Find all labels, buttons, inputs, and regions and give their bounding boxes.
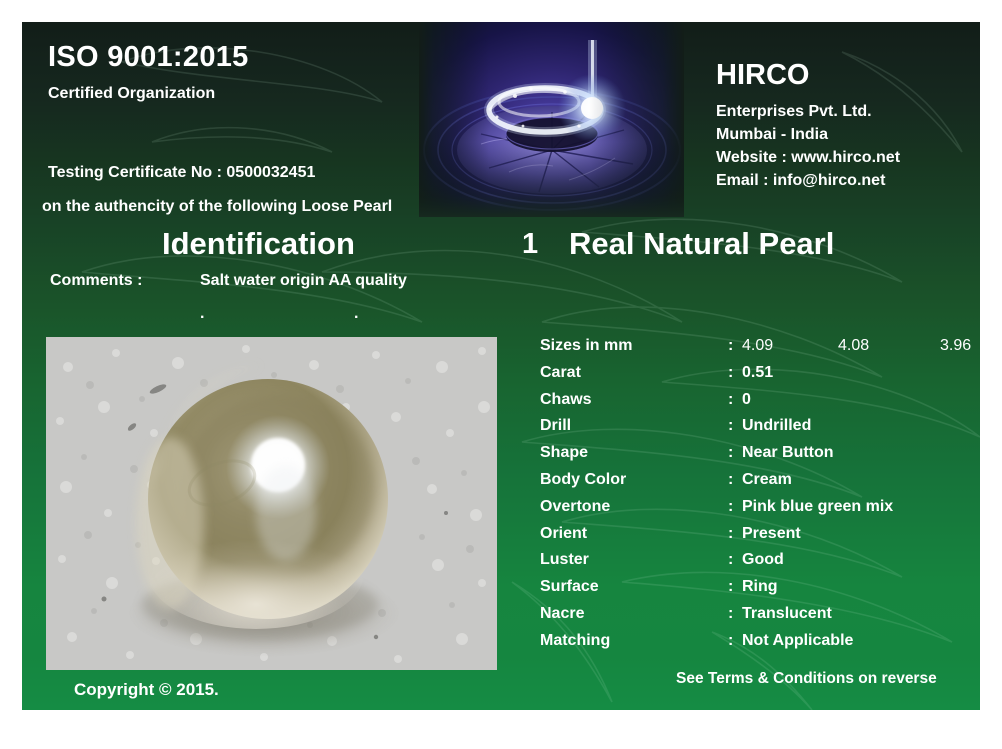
property-label: Surface xyxy=(540,578,599,596)
table-row: Body Color : Cream xyxy=(540,471,980,498)
property-label: Drill xyxy=(540,417,571,435)
certified-organization-label: Certified Organization xyxy=(48,85,249,103)
property-colon: : xyxy=(728,632,733,650)
property-colon: : xyxy=(728,525,733,543)
comments-value: Salt water origin AA quality xyxy=(200,272,407,290)
property-label: Orient xyxy=(540,525,587,543)
copyright-notice: Copyright © 2015. xyxy=(74,680,219,700)
company-line-location: Mumbai - India xyxy=(716,124,900,147)
property-label: Nacre xyxy=(540,605,584,623)
property-value-3: 3.96 xyxy=(940,337,971,355)
property-value: Present xyxy=(742,525,801,543)
property-value: Translucent xyxy=(742,605,832,623)
property-label: Shape xyxy=(540,444,588,462)
property-value: 0 xyxy=(742,391,751,409)
pearl-properties-table: Sizes in mm : 4.09 4.08 3.96 Carat : 0.5… xyxy=(540,337,980,659)
property-label: Sizes in mm xyxy=(540,337,632,355)
table-row: Surface : Ring xyxy=(540,578,980,605)
property-value: Cream xyxy=(742,471,792,489)
property-colon: : xyxy=(728,498,733,516)
testing-certificate-number: Testing Certificate No : 0500032451 xyxy=(48,164,315,182)
property-colon: : xyxy=(728,337,733,355)
header-left-block: ISO 9001:2015 Certified Organization xyxy=(48,42,249,103)
company-name: HIRCO xyxy=(716,60,900,90)
property-colon: : xyxy=(728,364,733,382)
terms-and-conditions-note: See Terms & Conditions on reverse xyxy=(676,670,937,688)
comments-dot-2: . xyxy=(354,305,358,323)
comments-label: Comments : xyxy=(50,272,142,290)
property-label: Luster xyxy=(540,551,589,569)
item-count: 1 xyxy=(522,228,538,261)
pearl-specimen-photo xyxy=(46,337,497,670)
property-label: Carat xyxy=(540,364,581,382)
property-value-2: 4.08 xyxy=(838,337,869,355)
property-value: 4.09 xyxy=(742,337,773,355)
glowing-pearl-ring-logo-icon xyxy=(419,22,684,217)
property-colon: : xyxy=(728,471,733,489)
table-row: Carat : 0.51 xyxy=(540,364,980,391)
property-colon: : xyxy=(728,391,733,409)
identification-heading: Identification xyxy=(162,226,355,262)
item-name: Real Natural Pearl xyxy=(569,226,834,262)
comments-dot-1: . xyxy=(200,305,204,323)
property-label: Chaws xyxy=(540,391,592,409)
property-label: Matching xyxy=(540,632,610,650)
property-value: 0.51 xyxy=(742,364,773,382)
property-value: Near Button xyxy=(742,444,834,462)
property-colon: : xyxy=(728,605,733,623)
table-row: Drill : Undrilled xyxy=(540,417,980,444)
table-row: Orient : Present xyxy=(540,525,980,552)
company-line-entity: Enterprises Pvt. Ltd. xyxy=(716,101,900,124)
property-value: Ring xyxy=(742,578,778,596)
identification-row: Identification 1 Real Natural Pearl xyxy=(22,226,980,270)
property-colon: : xyxy=(728,444,733,462)
table-row: Luster : Good xyxy=(540,551,980,578)
table-row: Matching : Not Applicable xyxy=(540,632,980,659)
company-address-block: Enterprises Pvt. Ltd. Mumbai - India Web… xyxy=(716,101,900,192)
property-label: Body Color xyxy=(540,471,626,489)
property-label: Overtone xyxy=(540,498,610,516)
authenticity-statement: on the authencity of the following Loose… xyxy=(42,198,392,216)
certificate-card: ISO 9001:2015 Certified Organization Tes… xyxy=(22,22,980,710)
property-colon: : xyxy=(728,578,733,596)
table-row: Nacre : Translucent xyxy=(540,605,980,632)
table-row: Shape : Near Button xyxy=(540,444,980,471)
property-value: Good xyxy=(742,551,784,569)
property-value: Not Applicable xyxy=(742,632,853,650)
table-row: Overtone : Pink blue green mix xyxy=(540,498,980,525)
company-line-email[interactable]: Email : info@hirco.net xyxy=(716,170,900,193)
table-row: Chaws : 0 xyxy=(540,391,980,418)
company-line-website[interactable]: Website : www.hirco.net xyxy=(716,147,900,170)
property-value: Pink blue green mix xyxy=(742,498,893,516)
property-value: Undrilled xyxy=(742,417,811,435)
table-row: Sizes in mm : 4.09 4.08 3.96 xyxy=(540,337,980,364)
property-colon: : xyxy=(728,551,733,569)
header-right-block: HIRCO Enterprises Pvt. Ltd. Mumbai - Ind… xyxy=(716,60,900,192)
property-colon: : xyxy=(728,417,733,435)
iso-title: ISO 9001:2015 xyxy=(48,42,249,72)
